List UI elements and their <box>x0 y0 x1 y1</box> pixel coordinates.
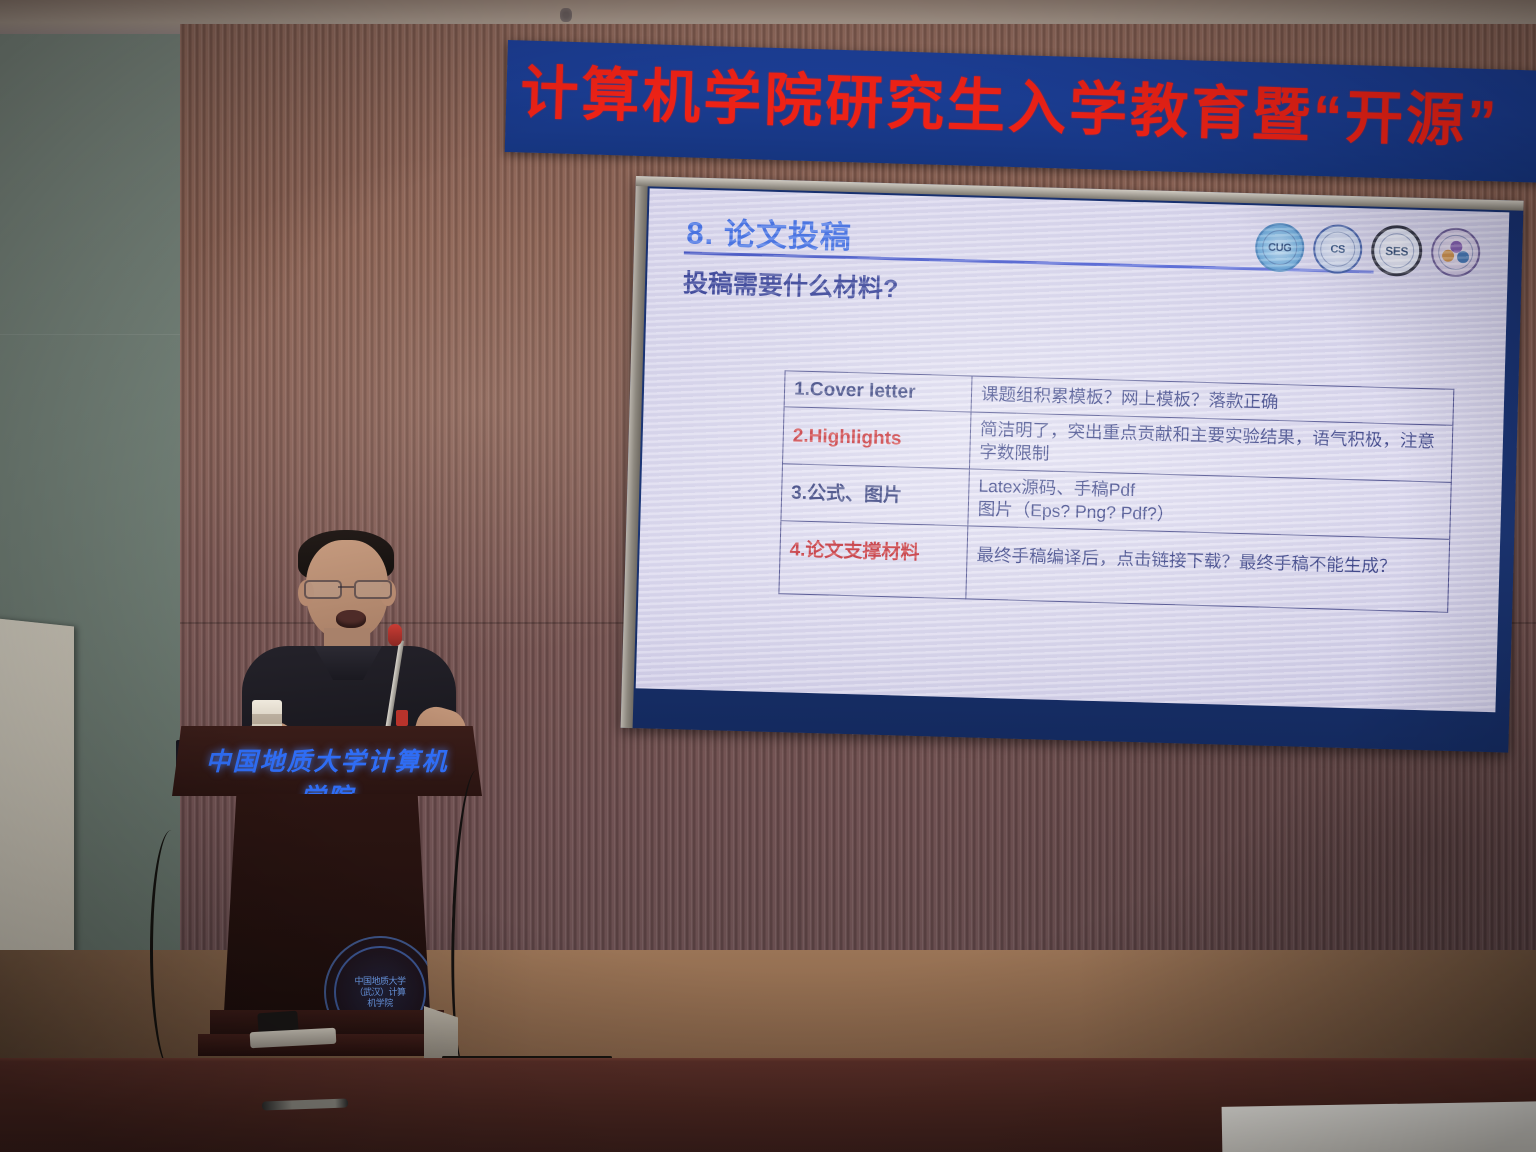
paper-sheet <box>1222 1101 1536 1152</box>
computer-school-logo-icon: CS <box>1313 224 1363 274</box>
ceiling-spotlight-icon <box>560 8 572 22</box>
logo-mark: CUG <box>1268 241 1292 254</box>
ses-logo-icon: SES <box>1371 225 1423 277</box>
logo-mark: SES <box>1385 243 1408 258</box>
table-key-cell: 2.Highlights <box>783 407 972 469</box>
shirt-badge <box>396 710 408 726</box>
emblem-label: 中国地质大学（武汉）计算机学院 <box>353 976 407 1008</box>
table-key-cell: 1.Cover letter <box>784 371 972 412</box>
table-key-cell: 3.公式、图片 <box>781 464 970 526</box>
presentation-slide: 8. 论文投稿 投稿需要什么材料? CUG CS SES <box>636 188 1510 712</box>
podium-front-panel: 中国地质大学计算机学院 <box>172 726 482 796</box>
lab-logo-icon <box>1431 227 1481 277</box>
power-cable <box>150 830 193 1070</box>
slide-subtitle: 投稿需要什么材料? <box>683 263 899 305</box>
microphone-icon <box>388 624 402 646</box>
logo-mark: CS <box>1330 243 1345 255</box>
projection-screen: 8. 论文投稿 投稿需要什么材料? CUG CS SES <box>621 176 1524 753</box>
lecture-hall-photo: 计算机学院研究生入学教育暨“开源” 8. 论文投稿 投稿需要什么材料? CUG … <box>0 0 1536 1152</box>
banner-title: 计算机学院研究生入学教育暨“开源” <box>519 54 1536 162</box>
glasses-icon <box>302 580 392 596</box>
mouth <box>336 610 366 628</box>
slide-title: 8. 论文投稿 <box>686 207 853 257</box>
submission-materials-table: 1.Cover letter 课题组积累模板？网上模板？落款正确 2.Highl… <box>778 370 1454 612</box>
slide-logo-row: CUG CS SES <box>1255 221 1481 278</box>
table-value-cell: 最终手稿编译后，点击链接下载？最终手稿不能生成？ <box>966 526 1450 612</box>
university-seal-logo-icon: CUG <box>1255 222 1305 272</box>
table-key-cell: 4.论文支撑材料 <box>779 521 968 598</box>
podium-column: 中国地质大学（武汉）计算机学院 <box>224 794 430 1012</box>
